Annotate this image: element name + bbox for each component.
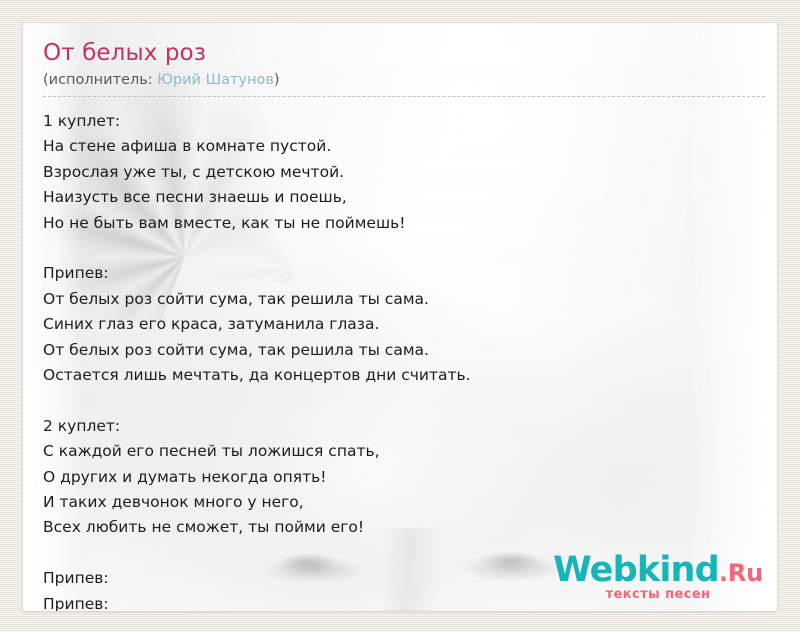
logo-tld-text: .Ru [719,559,763,587]
page-title: От белых роз [43,39,759,67]
artist-link[interactable]: Юрий Шатунов [157,72,274,88]
lyric-line: 2 куплет: [43,414,759,439]
lyric-line: Но не быть вам вместе, как ты не поймешь… [43,211,759,236]
lyrics-text: 1 куплет:На стене афиша в комнате пустой… [43,109,759,612]
lyric-line: Припев: [43,261,759,286]
lyric-line-blank [43,388,759,413]
lyric-line: И таких девчонок много у него, [43,490,759,515]
lyric-line: Остается лишь мечтать, да концертов дни … [43,363,759,388]
card-content: От белых роз (исполнитель: Юрий Шатунов)… [23,23,777,612]
artist-prefix-text: (исполнитель: [43,72,157,88]
lyric-line: Синих глаз его краса, затуманила глаза. [43,312,759,337]
lyric-line-blank [43,236,759,261]
lyric-line: На стене афиша в комнате пустой. [43,134,759,159]
logo-wordmark: Webkind.Ru [553,552,763,591]
artist-suffix-text: ) [274,72,280,88]
lyric-line: Наизусть все песни знаешь и поешь, [43,185,759,210]
lyric-line: От белых роз сойти сума, так решила ты с… [43,338,759,363]
site-logo[interactable]: Webkind.Ru тексты песен [553,552,763,601]
header-divider [43,96,765,97]
lyric-line: Взрослая уже ты, с детскою мечтой. [43,160,759,185]
lyric-line: От белых роз сойти сума, так решила ты с… [43,287,759,312]
page-frame: От белых роз (исполнитель: Юрий Шатунов)… [0,0,800,632]
lyric-line: 1 куплет: [43,109,759,134]
lyric-line: О других и думать некогда опять! [43,465,759,490]
lyric-line: С каждой его песней ты ложишся спать, [43,439,759,464]
lyrics-card: От белых роз (исполнитель: Юрий Шатунов)… [22,22,778,612]
logo-word-text: Webkind [553,550,719,590]
lyric-line: Всех любить не сможет, ты пойми его! [43,515,759,540]
artist-line: (исполнитель: Юрий Шатунов) [43,71,759,90]
